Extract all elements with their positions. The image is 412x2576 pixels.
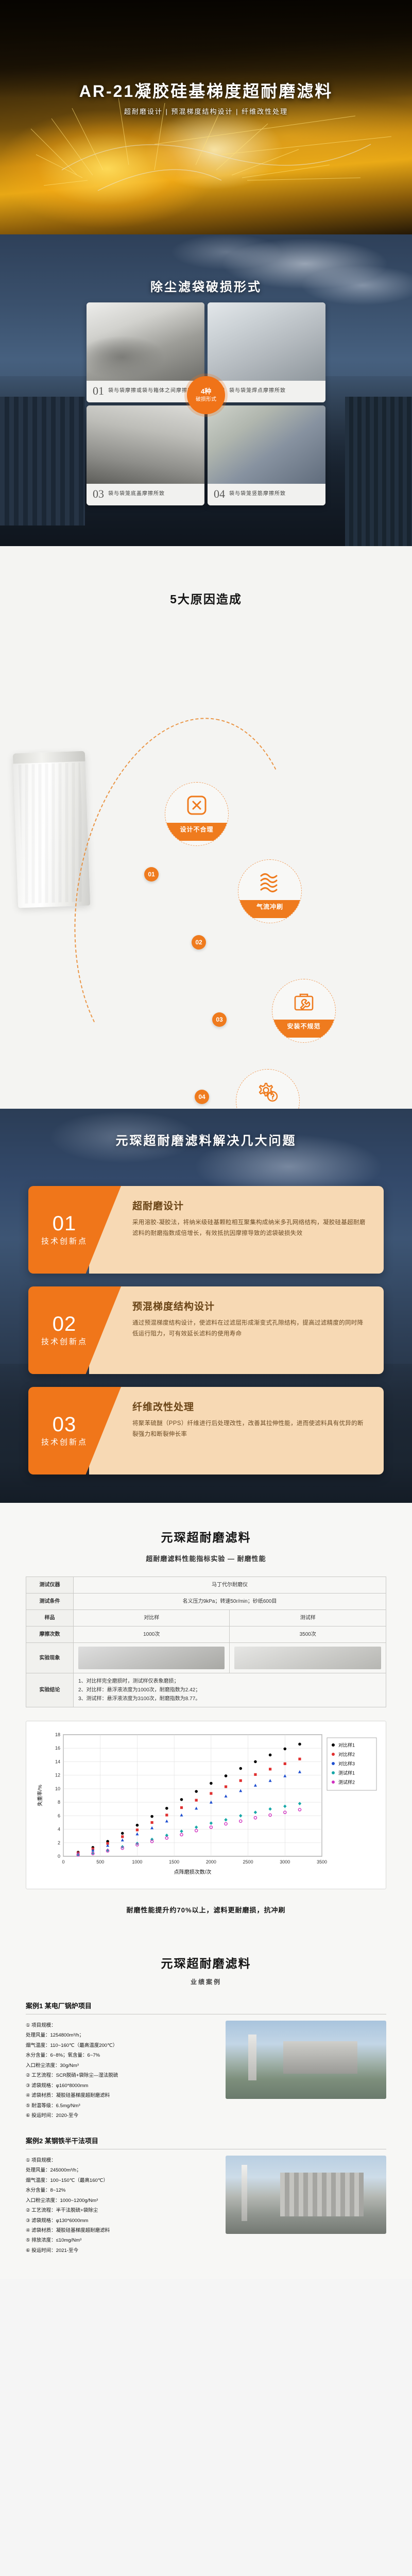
damage-count-badge: 4种 破损形式	[187, 376, 225, 414]
cause-item-airflow[interactable]: 气流冲刷	[238, 859, 302, 923]
hero-subtitle: 超耐磨设计 | 预混梯度结构设计 | 纤维改性处理	[0, 106, 412, 116]
svg-text:1000: 1000	[132, 1859, 142, 1865]
table-label-conditions: 测试条件	[26, 1594, 74, 1610]
table-value-sample-test: 测试样	[230, 1610, 386, 1626]
case-specs-1: ① 项目规模：处理风量：245000m³/h；烟气温度：100~150℃（最高1…	[26, 2156, 216, 2256]
damage-photo	[208, 302, 325, 381]
svg-text:6: 6	[58, 1813, 60, 1818]
table-value-conclusion: 1、对比样完全磨损时，测试样仅表象磨损； 2、对比样：悬浮液浓度为1000次，耐…	[74, 1673, 386, 1707]
damage-caption: 04 袋与袋笼竖筋摩擦所致	[208, 484, 325, 505]
case-spec-line: ① 项目规模：	[26, 2156, 216, 2165]
table-label-cycles: 摩擦次数	[26, 1626, 74, 1643]
svg-text:点阵磨损次数/次: 点阵磨损次数/次	[174, 1869, 212, 1875]
case-spec-line: ⑥ 投运时间：2021-至今	[26, 2246, 216, 2256]
case-spec-line: ③ 滤袋规格：φ160*8000mm	[26, 2081, 216, 2091]
cause-item-design[interactable]: 设计不合理	[165, 782, 229, 846]
table-value-cycles-control: 1000次	[74, 1626, 230, 1643]
case-spec-line: ④ 滤袋材质：凝胶硅基梯度超耐磨滤料	[26, 2091, 216, 2100]
table-row: 样品 对比样 测试样	[26, 1610, 386, 1626]
table-header-instrument: 测试仪器	[26, 1577, 74, 1594]
innovation-card-01[interactable]: 01 技术创新点 超耐磨设计 采用溶胶-凝胶法，将纳米级硅基颗粒相互聚集构成纳米…	[28, 1186, 384, 1274]
toolbox-wrench-icon	[272, 979, 335, 1020]
damage-card-text: 袋与袋笼竖筋摩擦所致	[229, 490, 286, 498]
innovation-card-text: 将聚苯硫醚（PPS）纤维进行后处理改性，改善其拉伸性能，进而使滤料具有优异的断裂…	[132, 1418, 368, 1440]
table-row: 摩擦次数 1000次 3500次	[26, 1626, 386, 1643]
svg-text:测试样2: 测试样2	[338, 1780, 355, 1785]
table-value-conditions: 名义压力9kPa；转速50r/min；砂纸600目	[74, 1594, 386, 1610]
svg-text:对比样2: 对比样2	[338, 1752, 355, 1757]
case-spec-line: 烟气温度：110~160℃（最高温度200℃）	[26, 2041, 216, 2050]
innovation-card-03[interactable]: 03 技术创新点 纤维改性处理 将聚苯硫醚（PPS）纤维进行后处理改性，改善其拉…	[28, 1387, 384, 1475]
svg-text:16: 16	[55, 1745, 60, 1751]
damage-section: 除尘滤袋破损形式 01 袋与袋摩擦或袋与箱体之间摩擦所致 02 袋与袋笼焊点摩擦…	[0, 234, 412, 546]
damage-photo	[87, 405, 204, 484]
cause-label: 安装不规范	[272, 1020, 335, 1038]
cause-item-params[interactable]: 运行参数设置不合理	[236, 1069, 300, 1109]
svg-text:3500: 3500	[317, 1859, 327, 1865]
innovation-card-02[interactable]: 02 技术创新点 预混梯度结构设计 通过预混梯度结构设计，使滤料在过滤层形成渐变…	[28, 1286, 384, 1374]
gear-question-icon	[236, 1070, 299, 1109]
svg-text:18: 18	[55, 1732, 60, 1737]
innovation-card-heading: 超耐磨设计	[132, 1198, 368, 1212]
damage-card[interactable]: 04 袋与袋笼竖筋摩擦所致	[208, 405, 325, 505]
case-spec-line: 烟气温度：100~150℃（最高160℃）	[26, 2176, 216, 2185]
case-body: ① 项目规模：处理风量：245000m³/h；烟气温度：100~150℃（最高1…	[26, 2156, 386, 2256]
test-conclusion: 耐磨性能提升约70%以上，滤料更耐磨损，抗冲刷	[26, 1905, 386, 1914]
innovation-card-number: 03	[53, 1414, 77, 1435]
test-results-table: 测试仪器 马丁代尔耐磨仪 测试条件 名义压力9kPa；转速50r/min；砂纸6…	[26, 1577, 386, 1707]
case-item: 案例2 某钢铁半干法项目 ① 项目规模：处理风量：245000m³/h；烟气温度…	[26, 2136, 386, 2256]
case-body: ① 项目规模：处理风量：1254800m³/h；烟气温度：110~160℃（最高…	[26, 2021, 386, 2121]
damage-card-text: 袋与袋笼焊点摩擦所致	[229, 387, 286, 395]
case-spec-line: ⑤ 排放浓度：≤10mg/Nm³	[26, 2235, 216, 2245]
svg-text:0: 0	[58, 1854, 60, 1859]
innovation-card-number: 02	[53, 1314, 77, 1334]
svg-text:1500: 1500	[169, 1859, 179, 1865]
case-photo	[226, 2156, 386, 2234]
test-subtitle: 超耐磨滤料性能指标实验 — 耐磨性能	[0, 1553, 412, 1563]
innovation-card-body: 超耐磨设计 采用溶胶-凝胶法，将纳米级硅基颗粒相互聚集构成纳米多孔网络结构，凝胶…	[89, 1186, 384, 1274]
svg-text:10: 10	[55, 1786, 60, 1791]
hero-banner: AR-21凝胶硅基梯度超耐磨滤料 超耐磨设计 | 预混梯度结构设计 | 纤维改性…	[0, 0, 412, 234]
case-spec-line: ⑥ 投运时间：2020-至今	[26, 2111, 216, 2121]
cases-subtitle: 业绩案例	[0, 1977, 412, 1986]
table-label-observation: 实验现象	[26, 1643, 74, 1673]
svg-text:12: 12	[55, 1773, 60, 1778]
damage-caption: 03 袋与袋笼底盖摩擦所致	[87, 484, 204, 505]
hero-title: AR-21凝胶硅基梯度超耐磨滤料	[0, 78, 412, 102]
innovation-card-tag: 技术创新点	[41, 1235, 88, 1246]
cause-node-03: 03	[212, 1012, 227, 1027]
case-spec-line: 水分含量：8~12%	[26, 2185, 216, 2195]
svg-text:失重率/%: 失重率/%	[37, 1785, 43, 1806]
innovation-card-text: 采用溶胶-凝胶法，将纳米级硅基颗粒相互聚集构成纳米多孔网络结构，凝胶硅基超耐磨滤…	[132, 1217, 368, 1240]
case-spec-line: ③ 滤袋规格：φ130*6000mm	[26, 2216, 216, 2226]
innovation-card-tag: 技术创新点	[41, 1436, 88, 1447]
damage-photo	[87, 302, 204, 381]
table-row: 测试仪器 马丁代尔耐磨仪	[26, 1577, 386, 1594]
svg-text:0: 0	[62, 1859, 64, 1865]
cause-node-02: 02	[192, 935, 206, 950]
table-label-sample: 样品	[26, 1610, 74, 1626]
svg-text:14: 14	[55, 1759, 60, 1764]
innovation-card-body: 预混梯度结构设计 通过预混梯度结构设计，使滤料在过滤层形成渐变式孔隙结构，提高过…	[89, 1286, 384, 1374]
test-title: 元琛超耐磨滤料	[0, 1528, 412, 1545]
case-spec-line: 处理风量：1254800m³/h；	[26, 2030, 216, 2040]
cause-node-04: 04	[195, 1090, 209, 1104]
svg-text:2: 2	[58, 1840, 60, 1845]
svg-text:2000: 2000	[206, 1859, 216, 1865]
case-spec-line: ② 工艺流程：半干法脱硫+袋除尘	[26, 2206, 216, 2215]
table-label-conclusion: 实验结论	[26, 1673, 74, 1707]
damage-card-number: 01	[93, 385, 104, 397]
damage-card-text: 袋与袋笼底盖摩擦所致	[108, 490, 165, 498]
cause-node-01: 01	[144, 867, 159, 882]
cases-title: 元琛超耐磨滤料	[0, 1954, 412, 1971]
damage-caption: 02 袋与袋笼焊点摩擦所致	[208, 381, 325, 402]
damage-card-number: 04	[214, 488, 225, 500]
table-value-sample-control: 对比样	[74, 1610, 230, 1626]
case-spec-line: ⑤ 耐温等级：6.5mg/Nm³	[26, 2101, 216, 2111]
svg-text:500: 500	[96, 1859, 104, 1865]
damage-card-text: 袋与袋摩擦或袋与箱体之间摩擦所致	[108, 387, 199, 395]
damage-photo	[208, 405, 325, 484]
case-item: 案例1 某电厂锅炉项目 ① 项目规模：处理风量：1254800m³/h；烟气温度…	[26, 2001, 386, 2121]
case-spec-line: ④ 滤袋材质：凝胶硅基梯度超耐磨滤料	[26, 2226, 216, 2235]
table-row: 实验结论 1、对比样完全磨损时，测试样仅表象磨损； 2、对比样：悬浮液浓度为10…	[26, 1673, 386, 1707]
innovation-card-tag: 技术创新点	[41, 1336, 88, 1347]
table-value-instrument: 马丁代尔耐磨仪	[74, 1577, 386, 1594]
svg-text:对比样3: 对比样3	[338, 1761, 355, 1767]
damage-card-number: 03	[93, 488, 104, 500]
svg-text:3000: 3000	[280, 1859, 290, 1865]
case-spec-line: 入口粉尘浓度：30g/Nm³	[26, 2061, 216, 2071]
observation-photo-control	[74, 1643, 230, 1673]
observation-photo-test	[230, 1643, 386, 1673]
innovation-card-body: 纤维改性处理 将聚苯硫醚（PPS）纤维进行后处理改性，改善其拉伸性能，进而使滤料…	[89, 1387, 384, 1475]
innovation-card-number: 01	[53, 1213, 77, 1234]
innovation-card-text: 通过预混梯度结构设计，使滤料在过滤层形成渐变式孔隙结构，提高过滤精度的同时降低运…	[132, 1318, 368, 1340]
svg-text:测试样1: 测试样1	[338, 1770, 355, 1776]
case-heading: 案例2 某钢铁半干法项目	[26, 2136, 386, 2149]
svg-text:对比样1: 对比样1	[338, 1742, 355, 1748]
cause-item-install[interactable]: 安装不规范	[272, 979, 336, 1043]
causes-section: 5大原因造成 01 02 03 04 05 设计不合理	[0, 546, 412, 1109]
case-spec-line: ② 工艺流程：SCR脱硝+袋除尘—湿法脱硫	[26, 2071, 216, 2080]
case-specs-0: ① 项目规模：处理风量：1254800m³/h；烟气温度：110~160℃（最高…	[26, 2021, 216, 2121]
innovation-title: 元琛超耐磨滤料解决几大问题	[0, 1130, 412, 1148]
case-photo	[226, 2021, 386, 2099]
causes-title: 5大原因造成	[0, 546, 412, 607]
svg-text:4: 4	[58, 1827, 60, 1832]
test-section: 元琛超耐磨滤料 超耐磨滤料性能指标实验 — 耐磨性能 测试仪器 马丁代尔耐磨仪 …	[0, 1503, 412, 1933]
innovation-card-heading: 纤维改性处理	[132, 1399, 368, 1413]
case-spec-line: 处理风量：245000m³/h；	[26, 2165, 216, 2175]
table-row: 实验现象	[26, 1643, 386, 1673]
table-row: 测试条件 名义压力9kPa；转速50r/min；砂纸600目	[26, 1594, 386, 1610]
cases-section: 元琛超耐磨滤料 业绩案例 案例1 某电厂锅炉项目 ① 项目规模：处理风量：125…	[0, 1933, 412, 2279]
case-spec-line: 入口粉尘浓度：1000~1200g/Nm³	[26, 2196, 216, 2206]
damage-card[interactable]: 02 袋与袋笼焊点摩擦所致	[208, 302, 325, 402]
product-landing-page: AR-21凝胶硅基梯度超耐磨滤料 超耐磨设计 | 预混梯度结构设计 | 纤维改性…	[0, 0, 412, 2279]
damage-card[interactable]: 01 袋与袋摩擦或袋与箱体之间摩擦所致	[87, 302, 204, 402]
case-spec-line: 水分含量：6~8%；氧含量：6~7%	[26, 2050, 216, 2060]
table-value-cycles-test: 3500次	[230, 1626, 386, 1643]
svg-text:2500: 2500	[243, 1859, 253, 1865]
case-heading: 案例1 某电厂锅炉项目	[26, 2001, 386, 2014]
case-spec-line: ① 项目规模：	[26, 2021, 216, 2030]
wear-test-chart: 0246810121416180500100015002000250030003…	[26, 1721, 386, 1889]
damage-section-title: 除尘滤袋破损形式	[0, 277, 412, 295]
innovation-section: 元琛超耐磨滤料解决几大问题 01 技术创新点 超耐磨设计 采用溶胶-凝胶法，将纳…	[0, 1109, 412, 1503]
damage-card[interactable]: 03 袋与袋笼底盖摩擦所致	[87, 405, 204, 505]
innovation-card-heading: 预混梯度结构设计	[132, 1299, 368, 1313]
badge-count: 4种	[201, 387, 211, 396]
svg-text:8: 8	[58, 1800, 60, 1805]
badge-label: 破损形式	[196, 396, 216, 403]
